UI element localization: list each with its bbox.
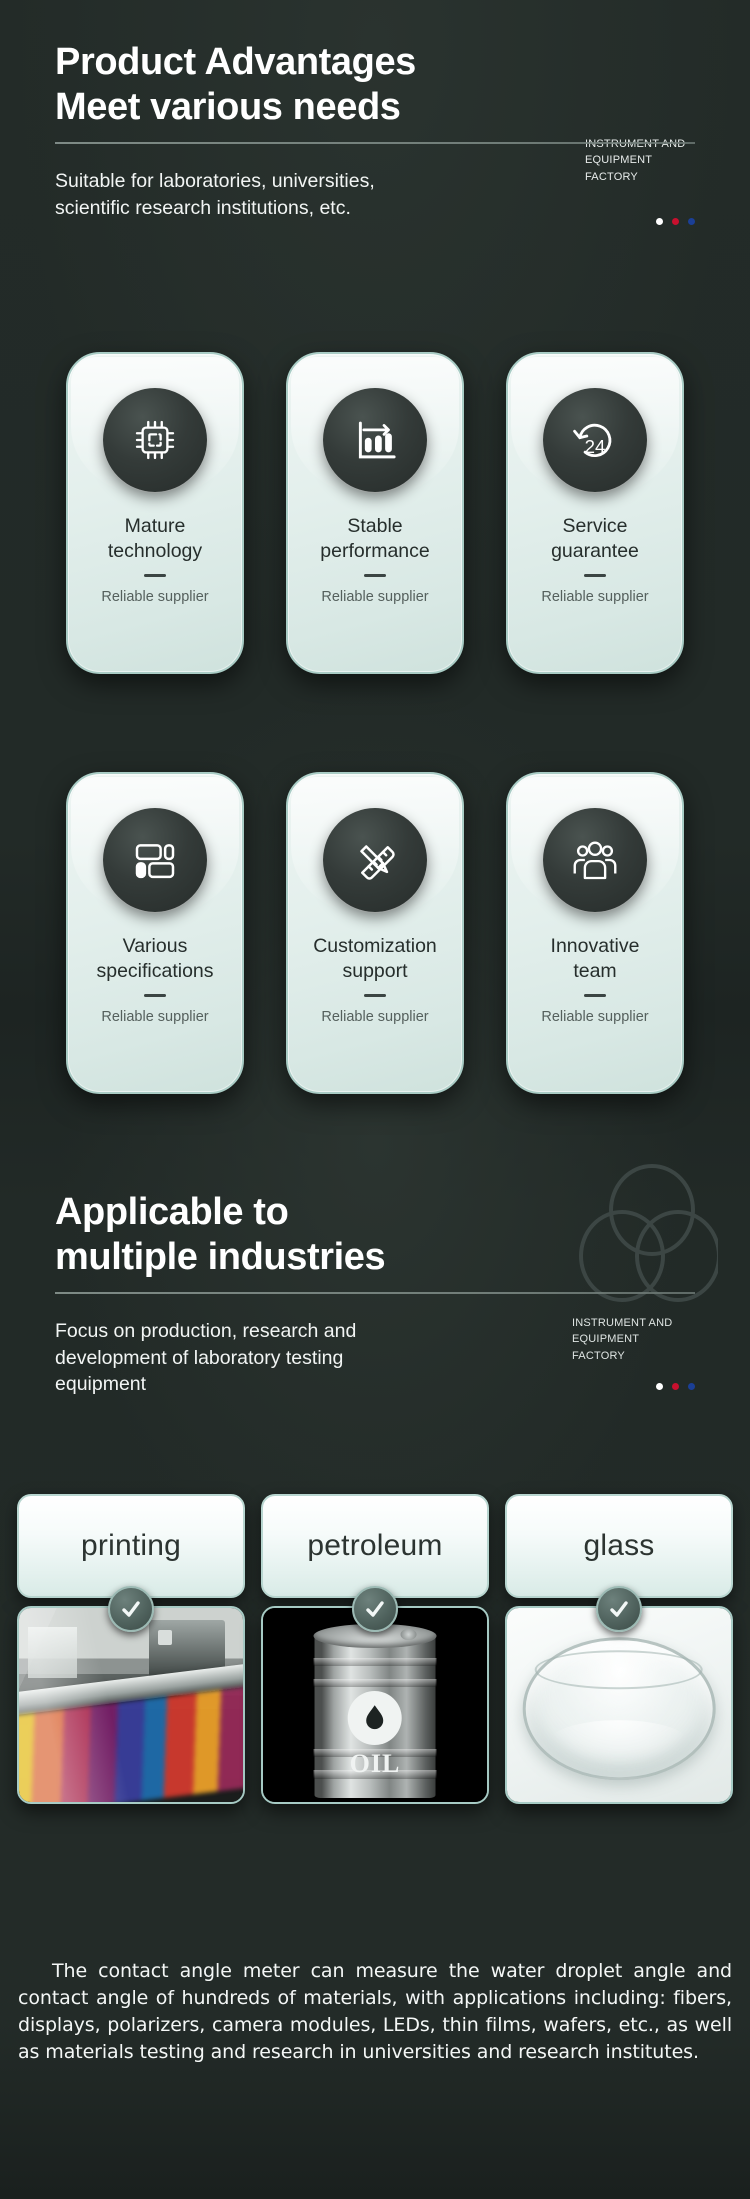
check-icon (352, 1586, 398, 1632)
oil-drum-photo: OIL (261, 1606, 489, 1804)
carousel-dot-1[interactable] (656, 1383, 663, 1390)
carousel-dot-2[interactable] (672, 218, 679, 225)
oil-drum-text: OIL (347, 1749, 403, 1779)
check-icon (108, 1586, 154, 1632)
advantage-card-title: Stable performance (300, 514, 450, 564)
layout-blocks-icon (103, 808, 207, 912)
advantage-card-various-specifications[interactable]: Various specifications Reliable supplier (66, 772, 244, 1094)
advantage-card-title: Various specifications (80, 934, 230, 984)
industries-section-header: Applicable to multiple industries INSTRU… (0, 1190, 750, 1398)
team-group-icon (543, 808, 647, 912)
carousel-dot-1[interactable] (656, 218, 663, 225)
product-detail-page: Product Advantages Meet various needs IN… (0, 0, 750, 2199)
industry-card-petroleum[interactable]: petroleum (261, 1494, 489, 1804)
printing-press-photo (17, 1606, 245, 1804)
advantage-card-note: Reliable supplier (300, 1009, 450, 1025)
carousel-dot-2[interactable] (672, 1383, 679, 1390)
advantage-card-title: Mature technology (80, 514, 230, 564)
advantage-card-title: Customization support (300, 934, 450, 984)
24-hour-service-icon: 24 (543, 388, 647, 492)
advantage-card-note: Reliable supplier (80, 589, 230, 605)
advantage-card-service-guarantee[interactable]: 24 Service guarantee Reliable supplier (506, 352, 684, 674)
industry-card-glass[interactable]: glass (505, 1494, 733, 1804)
brand-stamp-industries: INSTRUMENT AND EQUIPMENT FACTORY (572, 1315, 680, 1365)
advantage-card-mature-technology[interactable]: Mature technology Reliable supplier (66, 352, 244, 674)
advantage-card-customization-support[interactable]: Customization support Reliable supplier (286, 772, 464, 1094)
advantage-card-note: Reliable supplier (300, 589, 450, 605)
carousel-dots-advantages[interactable] (656, 218, 695, 225)
pencil-ruler-icon (323, 808, 427, 912)
glass-dish-photo (505, 1606, 733, 1804)
advantage-cards-row-1: Mature technology Reliable supplier Stab… (0, 352, 750, 674)
header-divider (55, 1292, 695, 1294)
industries-title: Applicable to multiple industries (55, 1190, 695, 1280)
advantage-card-innovative-team[interactable]: Innovative team Reliable supplier (506, 772, 684, 1094)
title-dash-divider (364, 574, 386, 577)
carousel-dot-3[interactable] (688, 218, 695, 225)
industry-label: petroleum (261, 1494, 489, 1598)
bar-chart-growth-icon (323, 388, 427, 492)
industry-cards: printing petroleum (0, 1494, 750, 1804)
cpu-chip-icon (103, 388, 207, 492)
title-dash-divider (364, 994, 386, 997)
industry-label: printing (17, 1494, 245, 1598)
advantage-card-note: Reliable supplier (80, 1009, 230, 1025)
title-dash-divider (144, 994, 166, 997)
advantage-cards-row-2: Various specifications Reliable supplier (0, 772, 750, 1094)
advantages-section-header: Product Advantages Meet various needs IN… (0, 40, 750, 221)
check-icon (596, 1586, 642, 1632)
advantages-title: Product Advantages Meet various needs (55, 40, 695, 130)
oil-drop-icon (348, 1691, 402, 1745)
advantage-card-stable-performance[interactable]: Stable performance Reliable supplier (286, 352, 464, 674)
title-dash-divider (584, 994, 606, 997)
carousel-dot-3[interactable] (688, 1383, 695, 1390)
footer-description: The contact angle meter can measure the … (18, 1958, 732, 2066)
industry-label: glass (505, 1494, 733, 1598)
advantage-card-title: Service guarantee (520, 514, 670, 564)
carousel-dots-industries[interactable] (656, 1383, 695, 1390)
header-divider (55, 142, 695, 144)
advantage-card-note: Reliable supplier (520, 1009, 670, 1025)
advantage-card-title: Innovative team (520, 934, 670, 984)
industry-card-printing[interactable]: printing (17, 1494, 245, 1804)
title-dash-divider (584, 574, 606, 577)
title-dash-divider (144, 574, 166, 577)
svg-text:24: 24 (585, 436, 606, 457)
advantage-card-note: Reliable supplier (520, 589, 670, 605)
